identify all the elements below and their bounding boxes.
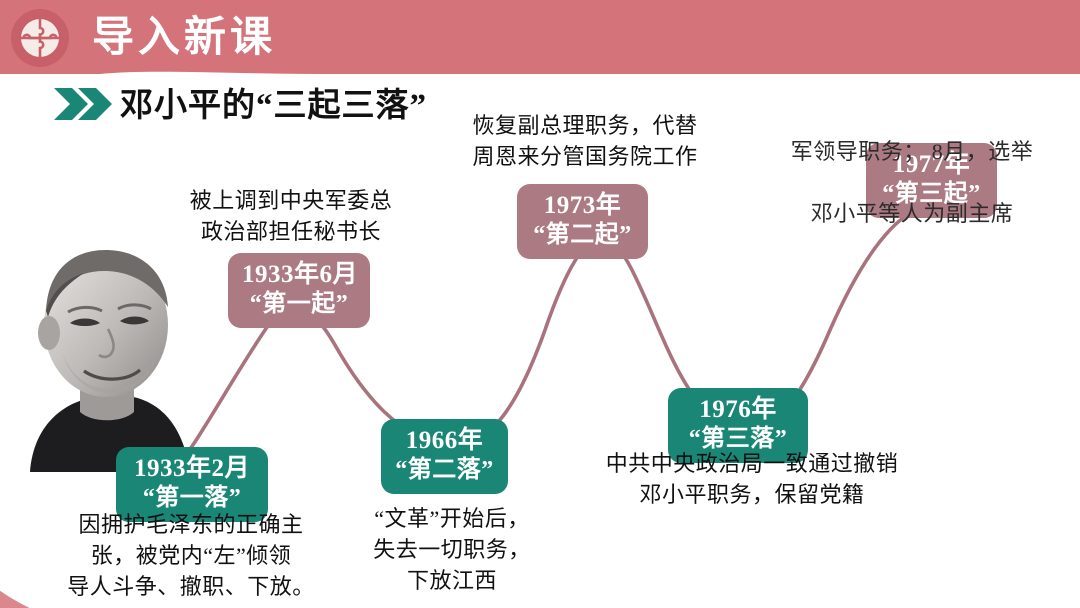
avatar xyxy=(22,237,187,472)
note-1933-06: 被上调到中央军委总 政治部担任秘书长 xyxy=(166,185,416,247)
double-chevron-right-icon xyxy=(52,86,114,122)
page-title: 导入新课 xyxy=(92,8,276,68)
milestone-tag: “第一起” xyxy=(242,290,356,319)
note-1976: 中共中央政治局一致通过撤销 邓小平职务，保留党籍 xyxy=(604,448,900,510)
note-1933-02: 因拥护毛泽东的正确主 张，被党内“左”倾领 导人斗争、撤职、下放。 xyxy=(46,509,336,602)
milestone-year: 1933年6月 xyxy=(242,260,356,290)
milestone-tag: “第二起” xyxy=(531,221,634,250)
milestone-pill-1973[interactable]: 1973年 “第二起” xyxy=(517,184,648,259)
milestone-pill-1933-06[interactable]: 1933年6月 “第一起” xyxy=(228,253,370,328)
milestone-year: 1933年2月 xyxy=(130,454,254,484)
note-1977-line2: 军领导职务； 8月，选举 xyxy=(791,139,1034,164)
milestone-year: 1976年 xyxy=(682,395,794,425)
note-1977: 7月，恢复邓小平的党政 军领导职务； 8月，选举 邓小平等人为副主席 xyxy=(756,43,1068,229)
slide-canvas: 导入新课 邓小平的“三起三落” xyxy=(0,0,1080,608)
milestone-tag: “第二落” xyxy=(395,456,494,485)
subtitle-label: 邓小平的“三起三落” xyxy=(120,78,427,126)
milestone-year: 1973年 xyxy=(531,191,634,221)
note-1966: “文革”开始后， 失去一切职务， 下放江西 xyxy=(356,503,548,596)
milestone-pill-1966[interactable]: 1966年 “第二落” xyxy=(381,419,508,494)
milestone-year: 1966年 xyxy=(395,426,494,456)
subtitle: 邓小平的“三起三落” xyxy=(52,78,427,126)
note-1977-line3: 邓小平等人为副主席 xyxy=(811,201,1014,226)
note-1973: 恢复副总理职务，代替 周恩来分管国务院工作 xyxy=(440,110,730,172)
note-1977-line1: 7月，恢复邓小平的党政 xyxy=(756,74,1068,105)
puzzle-piece-icon xyxy=(11,9,69,67)
